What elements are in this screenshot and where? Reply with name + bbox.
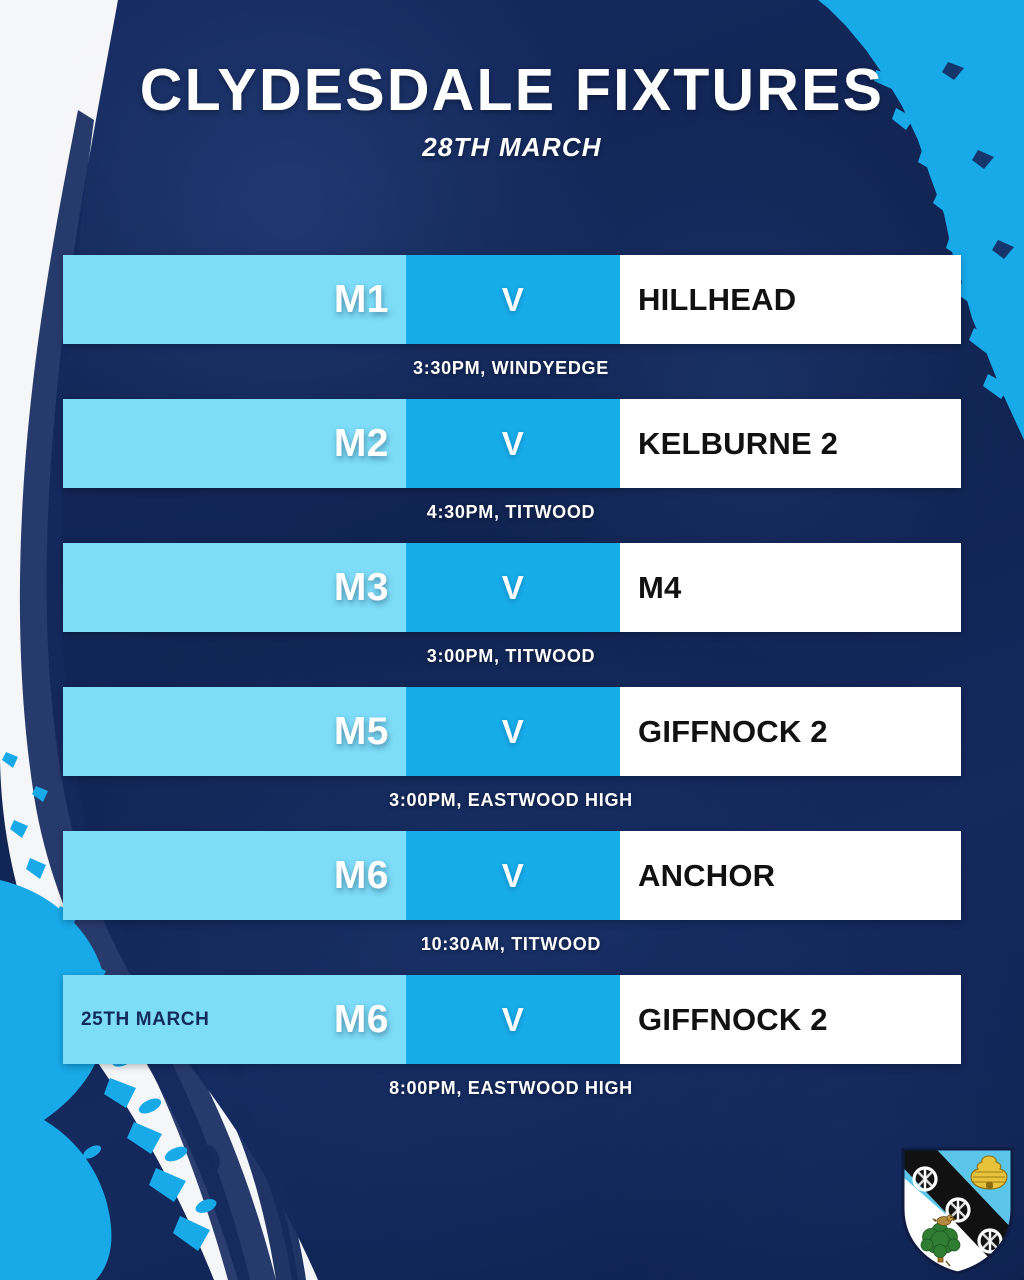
versus-label: V [502, 569, 525, 607]
fixture-bar: M1 V HILLHEAD [63, 255, 961, 344]
fixture-caption: 3:00PM, EASTWOOD HIGH [63, 776, 959, 823]
page-subtitle: 28TH MARCH [0, 132, 1024, 163]
away-team-cell: ANCHOR [620, 831, 961, 920]
fixture-bar: M5 V GIFFNOCK 2 [63, 687, 961, 776]
fixture-caption: 10:30AM, TITWOOD [63, 920, 959, 967]
versus-label: V [502, 281, 525, 319]
fixture-bar: M2 V KELBURNE 2 [63, 399, 961, 488]
versus-cell: V [406, 255, 620, 344]
versus-cell: V [406, 543, 620, 632]
away-team-cell: HILLHEAD [620, 255, 961, 344]
fixture-date-tag: 25TH MARCH [81, 1009, 209, 1031]
home-team-cell: M3 [63, 543, 406, 632]
fixture-caption: 3:30PM, WINDYEDGE [63, 344, 959, 391]
away-team-label: GIFFNOCK 2 [638, 1002, 828, 1038]
versus-label: V [502, 1001, 525, 1039]
home-team-label: M2 [334, 422, 389, 466]
fixture-row: M5 V GIFFNOCK 2 3:00PM, EASTWOOD HIGH [63, 687, 961, 823]
fixture-bar: M6 V ANCHOR [63, 831, 961, 920]
home-team-cell: M5 [63, 687, 406, 776]
fixture-row: M3 V M4 3:00PM, TITWOOD [63, 543, 961, 679]
away-team-label: GIFFNOCK 2 [638, 714, 828, 750]
fixture-caption: 3:00PM, TITWOOD [63, 632, 959, 679]
away-team-label: KELBURNE 2 [638, 426, 838, 462]
home-team-cell: M6 [63, 831, 406, 920]
versus-label: V [502, 857, 525, 895]
fixtures-list: M1 V HILLHEAD 3:30PM, WINDYEDGE M2 V [63, 255, 961, 1119]
away-team-cell: KELBURNE 2 [620, 399, 961, 488]
versus-label: V [502, 425, 525, 463]
versus-label: V [502, 713, 525, 751]
away-team-label: HILLHEAD [638, 282, 796, 318]
home-team-label: M6 [334, 854, 389, 898]
away-team-cell: M4 [620, 543, 961, 632]
fixture-caption: 8:00PM, EASTWOOD HIGH [63, 1064, 959, 1111]
versus-cell: V [406, 399, 620, 488]
fixture-bar: M3 V M4 [63, 543, 961, 632]
away-team-label: M4 [638, 570, 681, 606]
fixture-row: M1 V HILLHEAD 3:30PM, WINDYEDGE [63, 255, 961, 391]
fixture-bar: 25TH MARCH M6 V GIFFNOCK 2 [63, 975, 961, 1064]
away-team-cell: GIFFNOCK 2 [620, 975, 961, 1064]
away-team-cell: GIFFNOCK 2 [620, 687, 961, 776]
home-team-cell: M1 [63, 255, 406, 344]
home-team-label: M3 [334, 566, 389, 610]
versus-cell: V [406, 687, 620, 776]
fixture-caption: 4:30PM, TITWOOD [63, 488, 959, 535]
away-team-label: ANCHOR [638, 858, 775, 894]
fixture-row: M2 V KELBURNE 2 4:30PM, TITWOOD [63, 399, 961, 535]
home-team-label: M1 [334, 278, 389, 322]
versus-cell: V [406, 975, 620, 1064]
club-crest [899, 1147, 1016, 1275]
fixture-row: M6 V ANCHOR 10:30AM, TITWOOD [63, 831, 961, 967]
home-team-cell: 25TH MARCH M6 [63, 975, 406, 1064]
fixture-row: 25TH MARCH M6 V GIFFNOCK 2 8:00PM, EASTW… [63, 975, 961, 1111]
poster-header: CLYDESDALE FIXTURES 28TH MARCH [0, 60, 1024, 163]
page-title: CLYDESDALE FIXTURES [0, 60, 1024, 122]
home-team-label: M6 [334, 998, 389, 1042]
home-team-label: M5 [334, 710, 389, 754]
fixtures-poster: CLYDESDALE FIXTURES 28TH MARCH M1 V HILL… [0, 0, 1024, 1280]
home-team-cell: M2 [63, 399, 406, 488]
versus-cell: V [406, 831, 620, 920]
